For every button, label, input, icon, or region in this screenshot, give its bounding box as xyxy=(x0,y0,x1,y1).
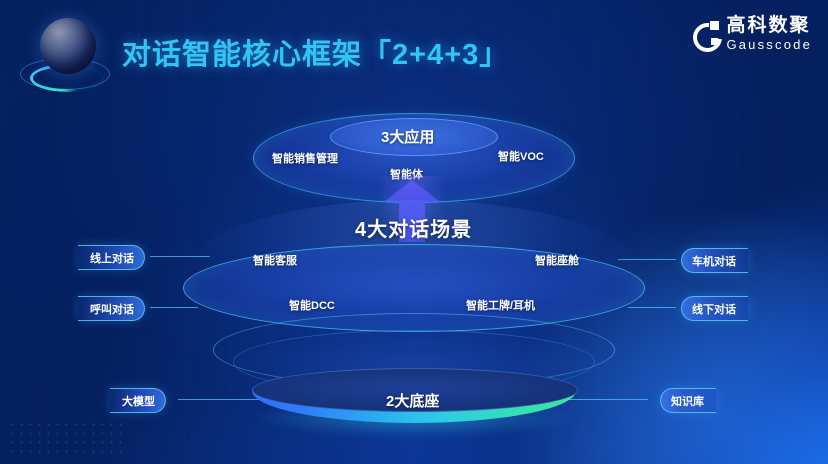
application-item-voc: 智能VOC xyxy=(498,148,544,164)
scenario-item-badge-headset: 智能工牌/耳机 xyxy=(466,297,535,313)
connector-line-call xyxy=(150,307,198,308)
orb-ball-icon xyxy=(40,18,96,74)
connector-line-car xyxy=(618,259,676,260)
tag-large-model[interactable]: 大模型 xyxy=(110,388,166,413)
scenarios-title: 4大对话场景 xyxy=(355,213,472,242)
tag-call-dialogue[interactable]: 呼叫对话 xyxy=(78,296,145,321)
tag-knowledge-base[interactable]: 知识库 xyxy=(660,388,716,413)
orb-sphere-icon xyxy=(18,12,110,104)
foundation-title: 2大底座 xyxy=(386,390,439,411)
brand-name-cn: 高科数聚 xyxy=(726,16,812,35)
brand-name-en: Gausscode xyxy=(726,38,812,51)
connector-line-knowledge xyxy=(564,399,648,400)
page-title: 对话智能核心框架「2+4+3」 xyxy=(122,31,509,73)
tag-online-dialogue[interactable]: 线上对话 xyxy=(78,245,145,270)
applications-title: 3大应用 xyxy=(381,126,434,147)
scenario-item-dcc: 智能DCC xyxy=(289,297,335,313)
scenario-item-customer-service: 智能客服 xyxy=(253,252,297,268)
tag-offline-dialogue[interactable]: 线下对话 xyxy=(681,296,748,321)
application-item-sales: 智能销售管理 xyxy=(272,150,338,166)
connector-line-model xyxy=(178,399,262,400)
scenario-item-cockpit: 智能座舱 xyxy=(535,252,579,268)
decorative-dot-grid xyxy=(8,420,128,454)
slide-canvas: 对话智能核心框架「2+4+3」 高科数聚 Gausscode 3大应用 智能销售… xyxy=(0,0,828,464)
connector-line-online xyxy=(150,256,210,257)
brand-logo: 高科数聚 Gausscode xyxy=(693,16,812,51)
application-item-agent: 智能体 xyxy=(390,166,423,182)
gausscode-logo-icon xyxy=(693,21,719,47)
connector-line-offline xyxy=(628,307,676,308)
tag-vehicle-dialogue[interactable]: 车机对话 xyxy=(681,248,748,273)
